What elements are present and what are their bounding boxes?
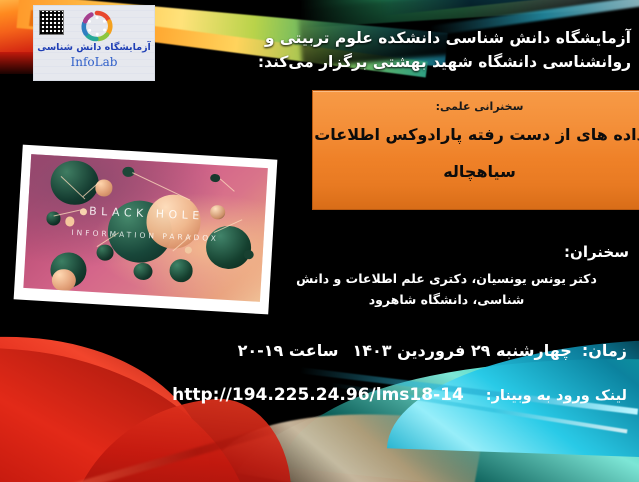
- schedule-date: چهارشنبه ۲۹ فروردین ۱۴۰۳: [352, 341, 571, 360]
- sphere-decor: [50, 159, 100, 206]
- bottom-red-highlight: [0, 423, 285, 482]
- speaker-name-line-2: شناسی، دانشگاه شاهرود: [264, 289, 629, 310]
- sphere-decor: [184, 246, 191, 253]
- announcement-subtitle: سیاهچاله: [313, 162, 639, 181]
- schedule-line: زمان:چهارشنبه ۲۹ فروردین ۱۴۰۳ساعت ۱۹-۲۰: [7, 341, 627, 360]
- black-hole-artwork: BLACK HOLE INFORMATION PARADOX: [23, 154, 268, 302]
- sphere-decor: [133, 262, 153, 280]
- speaker-name-line-1: دکتر یونس یونسیان، دکتری علم اطلاعات و د…: [264, 268, 629, 289]
- qr-code-icon: [39, 10, 64, 35]
- sphere-decor: [205, 225, 252, 270]
- top-green-ribbon: [299, 0, 639, 28]
- sphere-decor: [169, 259, 194, 283]
- webinar-link-label: لینک ورود به وبینار:: [486, 388, 627, 404]
- bottom-red-swoosh-c: [55, 394, 295, 482]
- logo-english-name: InfoLab: [34, 55, 154, 69]
- header-line-1: آزمایشگاه دانش شناسی دانشکده علوم تربیتی…: [161, 26, 631, 50]
- circular-people-ring-icon: [80, 9, 114, 43]
- schedule-time: ساعت ۱۹-۲۰: [238, 341, 339, 360]
- webinar-poster: آزمایشگاه دانش شناسی InfoLab آزمایشگاه د…: [0, 0, 639, 482]
- poster-header: آزمایشگاه دانش شناسی دانشکده علوم تربیتی…: [161, 26, 631, 74]
- webinar-url[interactable]: http://194.225.24.96/lms18-14: [172, 385, 464, 405]
- sphere-decor: [243, 250, 253, 260]
- infolab-logo-card: آزمایشگاه دانش شناسی InfoLab: [34, 6, 154, 80]
- logo-persian-name: آزمایشگاه دانش شناسی: [34, 42, 154, 53]
- speaker-label: سخنران:: [264, 243, 629, 261]
- schedule-label: زمان:: [582, 341, 627, 360]
- bottom-red-swoosh-b: [0, 347, 266, 482]
- sphere-decor: [210, 174, 220, 183]
- sphere-decor: [65, 217, 75, 227]
- webinar-link-line: لینک ورود به وبینار:http://194.225.24.96…: [7, 385, 627, 405]
- announcement-title: داده های از دست رفته پارادوکس اطلاعات: [313, 125, 639, 144]
- black-hole-artwork-frame: BLACK HOLE INFORMATION PARADOX: [14, 145, 278, 315]
- speaker-section: سخنران: دکتر یونس یونسیان، دکتری علم اطل…: [264, 243, 629, 311]
- header-line-2: روانشناسی دانشگاه شهید بهشتی برگزار می‌ک…: [161, 50, 631, 74]
- sphere-decor: [96, 244, 114, 261]
- announcement-kicker: سخنرانی علمی:: [313, 100, 639, 113]
- connector-line: [219, 179, 234, 192]
- top-cyan-ribbon: [379, 0, 639, 16]
- bottom-dark-blob: [216, 394, 521, 482]
- announcement-box: سخنرانی علمی: داده های از دست رفته پاراد…: [312, 90, 639, 210]
